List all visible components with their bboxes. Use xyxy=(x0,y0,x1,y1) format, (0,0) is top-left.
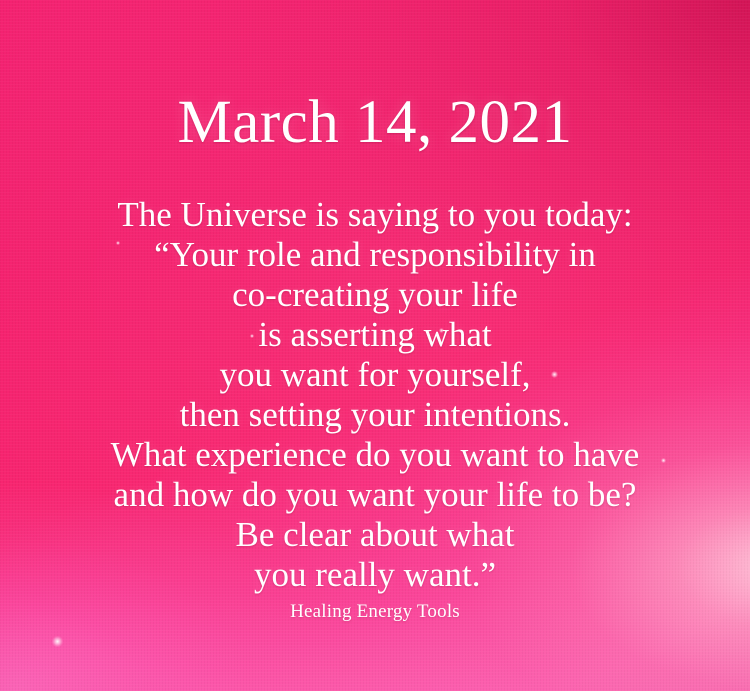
attribution-label: Healing Energy Tools xyxy=(290,601,460,623)
quote-image: March 14, 2021 The Universe is saying to… xyxy=(0,0,750,691)
quote-line: and how do you want your life to be? xyxy=(114,475,637,515)
quote-text-block: The Universe is saying to you today:“You… xyxy=(0,195,750,595)
quote-line: you want for yourself, xyxy=(219,355,530,395)
quote-line: you really want.” xyxy=(254,555,496,595)
quote-line: then setting your intentions. xyxy=(180,395,571,435)
quote-content: March 14, 2021 The Universe is saying to… xyxy=(0,0,750,691)
quote-line: is asserting what xyxy=(258,315,491,355)
date-title: March 14, 2021 xyxy=(178,92,573,153)
quote-line: co‐creating your life xyxy=(232,275,518,315)
quote-line: Be clear about what xyxy=(236,515,515,555)
quote-line: What experience do you want to have xyxy=(111,435,640,475)
quote-line: “Your role and responsibility in xyxy=(154,235,596,275)
quote-line: The Universe is saying to you today: xyxy=(117,195,632,235)
